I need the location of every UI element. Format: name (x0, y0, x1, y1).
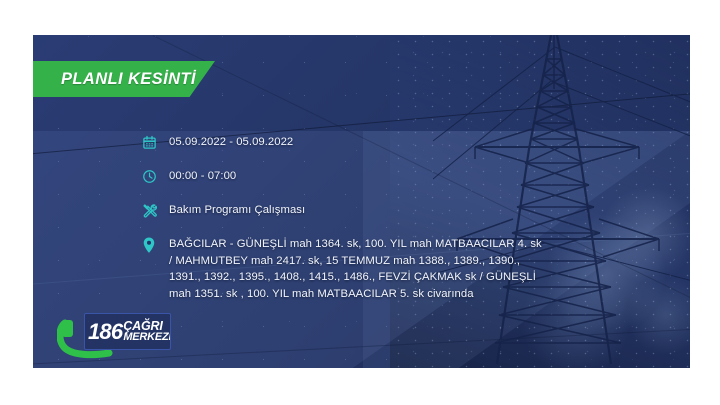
info-row-time: 00:00 - 07:00 (138, 168, 548, 188)
info-row-reason: Bakım Programı Çalışması (138, 202, 548, 222)
call-center-logo: 186 ÇAĞRI MERKEZİ (57, 305, 173, 361)
clock-icon (138, 169, 160, 188)
tools-icon (138, 203, 160, 222)
outage-reason: Bakım Programı Çalışması (169, 202, 305, 218)
info-row-date: 05.09.2022 - 05.09.2022 (138, 134, 548, 154)
outage-info-list: 05.09.2022 - 05.09.2022 00:00 - 07:00 (138, 134, 548, 302)
outage-time-range: 00:00 - 07:00 (169, 168, 236, 184)
page-canvas: PLANLI KESİNTİ 05.09.2022 - 05.09.2022 (0, 0, 720, 405)
outage-address: BAĞCILAR - GÜNEŞLİ mah 1364. sk, 100. YI… (169, 236, 548, 302)
logo-plate: 186 ÇAĞRI MERKEZİ (84, 313, 171, 350)
logo-word-merkezi: MERKEZİ (123, 332, 171, 343)
location-pin-icon (138, 237, 160, 256)
outage-notice-card: PLANLI KESİNTİ 05.09.2022 - 05.09.2022 (33, 35, 690, 368)
ribbon-label: PLANLI KESİNTİ (61, 70, 196, 89)
planned-outage-ribbon: PLANLI KESİNTİ (33, 61, 215, 97)
outage-date-range: 05.09.2022 - 05.09.2022 (169, 134, 293, 150)
logo-words: ÇAĞRI MERKEZİ (123, 320, 171, 344)
info-row-address: BAĞCILAR - GÜNEŞLİ mah 1364. sk, 100. YI… (138, 236, 548, 302)
calendar-icon (138, 135, 160, 154)
logo-number: 186 (88, 321, 122, 343)
